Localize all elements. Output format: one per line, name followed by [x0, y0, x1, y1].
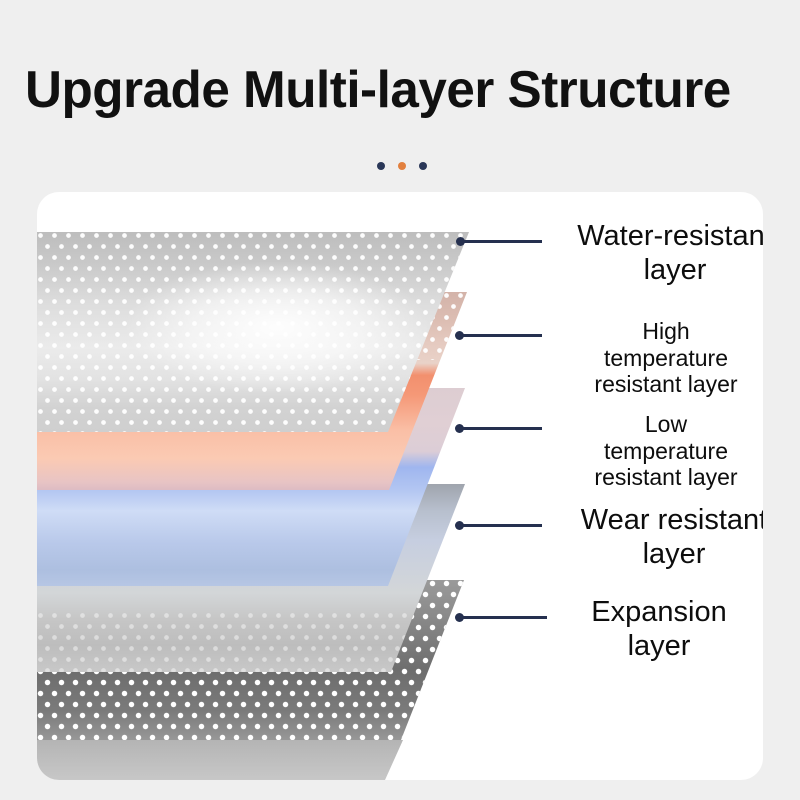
callout-line-1: Low [645, 411, 687, 437]
layer-stack [37, 192, 497, 780]
separator-dot-1 [377, 162, 385, 170]
callout-leader-line [459, 334, 542, 337]
callout-line-2: layer [628, 630, 691, 662]
callout-label-high-temperature: High temperature resistant layer [551, 318, 763, 398]
layer-base-plate [37, 740, 477, 780]
callout-line-2: temperature [604, 345, 728, 371]
separator-dot-3 [419, 162, 427, 170]
callout-line-2: layer [643, 538, 706, 570]
callout-leader-line [459, 427, 542, 430]
callout-line-1: Wear resistant [581, 504, 763, 536]
callout-line-2: layer [644, 254, 707, 286]
page-title: Upgrade Multi-layer Structure [25, 62, 731, 118]
separator-dot-2 [398, 162, 406, 170]
diagram-canvas: Upgrade Multi-layer Structure [0, 0, 800, 800]
callout-leader-line [460, 240, 542, 243]
callout-leader-line [459, 616, 547, 619]
callout-label-expansion: Expansion layer [554, 596, 763, 663]
layer-base-plate-fill [37, 740, 477, 780]
callout-line-1: Expansion [591, 596, 726, 628]
callout-leader-line [459, 524, 542, 527]
diagram-card: Water-resistant layer High temperature r… [37, 192, 763, 780]
callout-line-3: resistant layer [594, 371, 737, 397]
callout-label-water-resistant: Water-resistant layer [550, 220, 763, 287]
callout-line-2: temperature [604, 438, 728, 464]
callout-line-1: Water-resistant [577, 220, 763, 252]
callout-line-3: resistant layer [594, 464, 737, 490]
callout-label-low-temperature: Low temperature resistant layer [551, 411, 763, 491]
callout-label-wear-resistant: Wear resistant layer [549, 504, 763, 571]
callout-line-1: High [642, 318, 689, 344]
three-dot-separator [377, 160, 427, 172]
